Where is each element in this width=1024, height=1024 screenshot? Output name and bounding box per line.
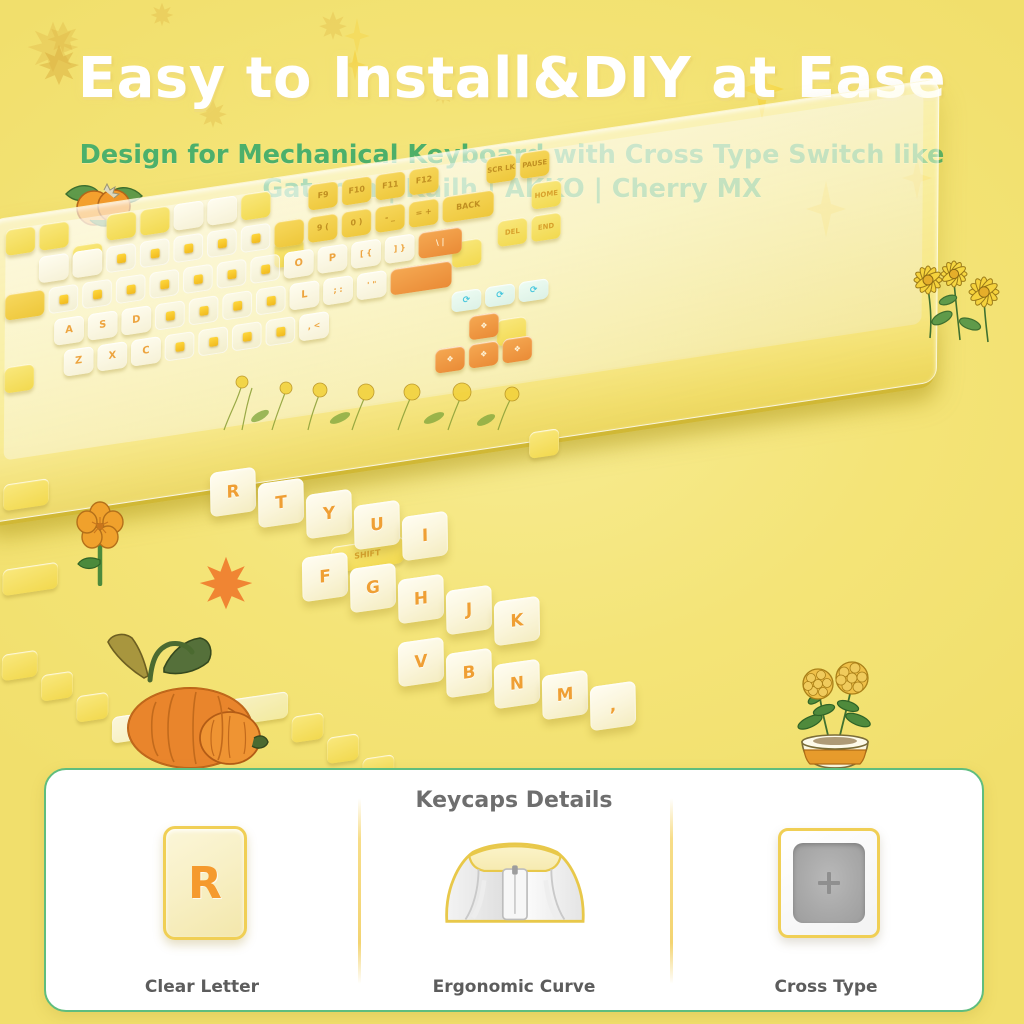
keycaps-details-card: Keycaps Details R Clear Letter (44, 768, 984, 1012)
loose-keycap-u: U (354, 500, 400, 551)
loose-keycap-b: B (446, 648, 492, 699)
loose-keycap-r: R (210, 467, 256, 518)
loose-keycap-v: V (398, 637, 444, 688)
loose-keycap-n: N (494, 659, 540, 710)
pumpkins-illustration (78, 610, 308, 770)
feature-label-ergonomic-curve: Ergonomic Curve (369, 977, 659, 997)
keycap-cavity (793, 843, 865, 923)
loose-keycap-g: G (350, 563, 396, 614)
potted-marigold-illustration (780, 640, 890, 770)
clear-letter-art: R (57, 824, 347, 946)
feature-label-cross-type: Cross Type (681, 977, 971, 997)
feature-cross-type: Cross Type (681, 824, 971, 999)
loose-keycap-comma: , (590, 681, 636, 732)
feature-label-clear-letter: Clear Letter (57, 977, 347, 997)
cross-type-art (681, 824, 971, 946)
loose-keycap-i: I (402, 511, 448, 562)
card-title: Keycaps Details (46, 788, 982, 813)
feature-ergonomic-curve: Ergonomic Curve (369, 824, 659, 999)
maple-leaf-illustration (196, 552, 256, 614)
loose-keycap-k: K (494, 596, 540, 647)
card-divider (358, 798, 361, 984)
loose-keycap-f: F (302, 552, 348, 603)
feature-clear-letter: R Clear Letter (57, 824, 347, 999)
ergonomic-curve-art (369, 824, 659, 946)
keycap-underside (778, 828, 880, 938)
loose-keycap-m: M (542, 670, 588, 721)
card-divider (670, 798, 673, 984)
marketing-image: Easy to Install&DIY at Ease Design for M… (0, 0, 1024, 1024)
loose-keycap-h: H (398, 574, 444, 625)
loose-keycap-j: J (446, 585, 492, 636)
loose-keycap-y: Y (306, 489, 352, 540)
orange-flower-illustration (66, 500, 138, 586)
sunflowers-illustration (896, 248, 1016, 344)
keycap-letter-r: R (163, 826, 247, 940)
loose-keycap-t: T (258, 478, 304, 529)
